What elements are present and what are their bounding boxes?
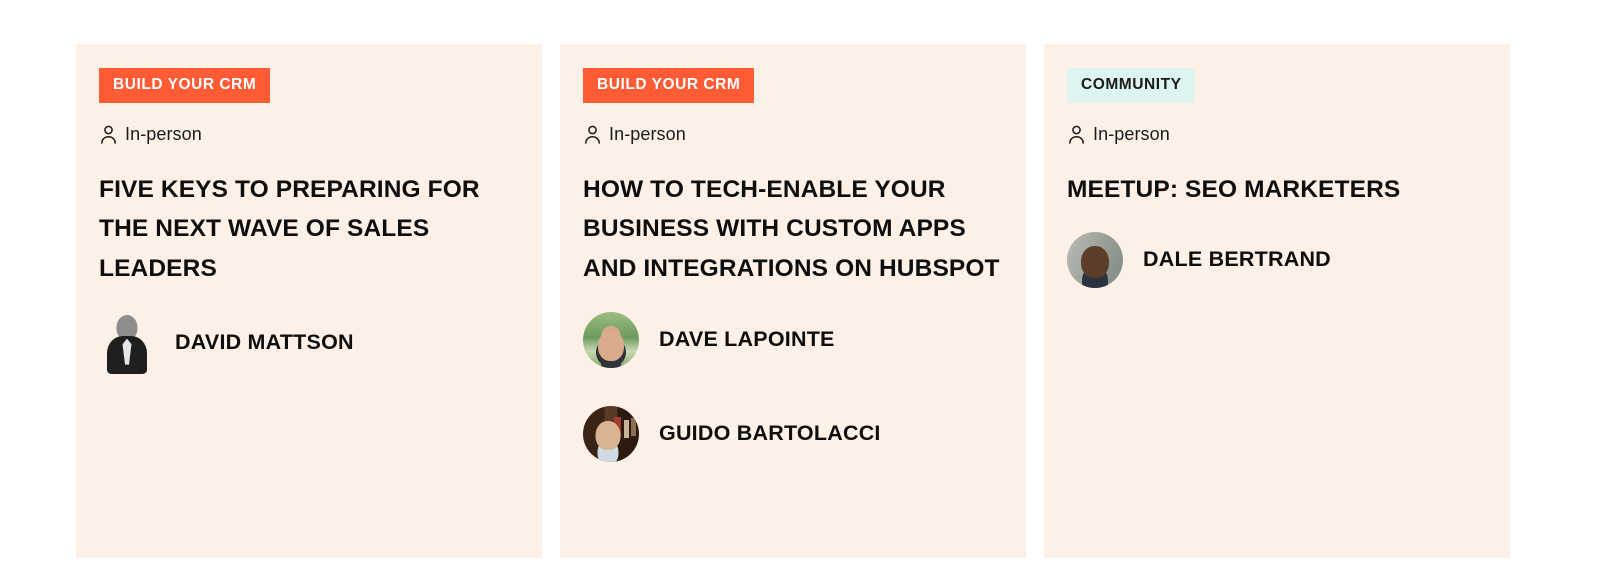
avatar [583,312,639,368]
event-format-label: In-person [609,125,686,143]
avatar [99,311,155,375]
speaker-item: DALE BERTRAND [1067,231,1487,289]
category-badge[interactable]: BUILD YOUR CRM [583,68,754,103]
event-title[interactable]: MEETUP: SEO MARKETERS [1067,170,1487,210]
person-icon [584,125,601,144]
speaker-item: GUIDO BARTOLACCI [583,405,1003,463]
event-cards-grid: BUILD YOUR CRM In-person FIVE KEYS TO PR… [76,44,1524,558]
event-card[interactable]: COMMUNITY In-person MEETUP: SEO MARKETER… [1044,44,1510,558]
person-icon [100,125,117,144]
speaker-list: DAVE LAPOINTE GUIDO BARTOLACCI [583,311,1003,463]
speaker-item: DAVE LAPOINTE [583,311,1003,369]
event-format: In-person [100,125,519,144]
speaker-name: DAVE LAPOINTE [659,328,835,352]
category-badge[interactable]: COMMUNITY [1067,68,1195,103]
speaker-name: DALE BERTRAND [1143,248,1331,272]
speaker-name: GUIDO BARTOLACCI [659,422,881,446]
speaker-list: DALE BERTRAND [1067,231,1487,289]
speaker-name: DAVID MATTSON [175,331,354,355]
speaker-list: DAVID MATTSON [99,311,519,375]
event-title[interactable]: FIVE KEYS TO PREPARING FOR THE NEXT WAVE… [99,170,519,289]
speaker-item: DAVID MATTSON [99,311,519,375]
event-format-label: In-person [1093,125,1170,143]
event-card[interactable]: BUILD YOUR CRM In-person FIVE KEYS TO PR… [76,44,542,558]
event-format: In-person [584,125,1003,144]
event-title[interactable]: HOW TO TECH-ENABLE YOUR BUSINESS WITH CU… [583,170,1003,289]
event-format: In-person [1068,125,1487,144]
category-badge[interactable]: BUILD YOUR CRM [99,68,270,103]
avatar [583,406,639,462]
event-format-label: In-person [125,125,202,143]
person-icon [1068,125,1085,144]
avatar [1067,232,1123,288]
event-card[interactable]: BUILD YOUR CRM In-person HOW TO TECH-ENA… [560,44,1026,558]
